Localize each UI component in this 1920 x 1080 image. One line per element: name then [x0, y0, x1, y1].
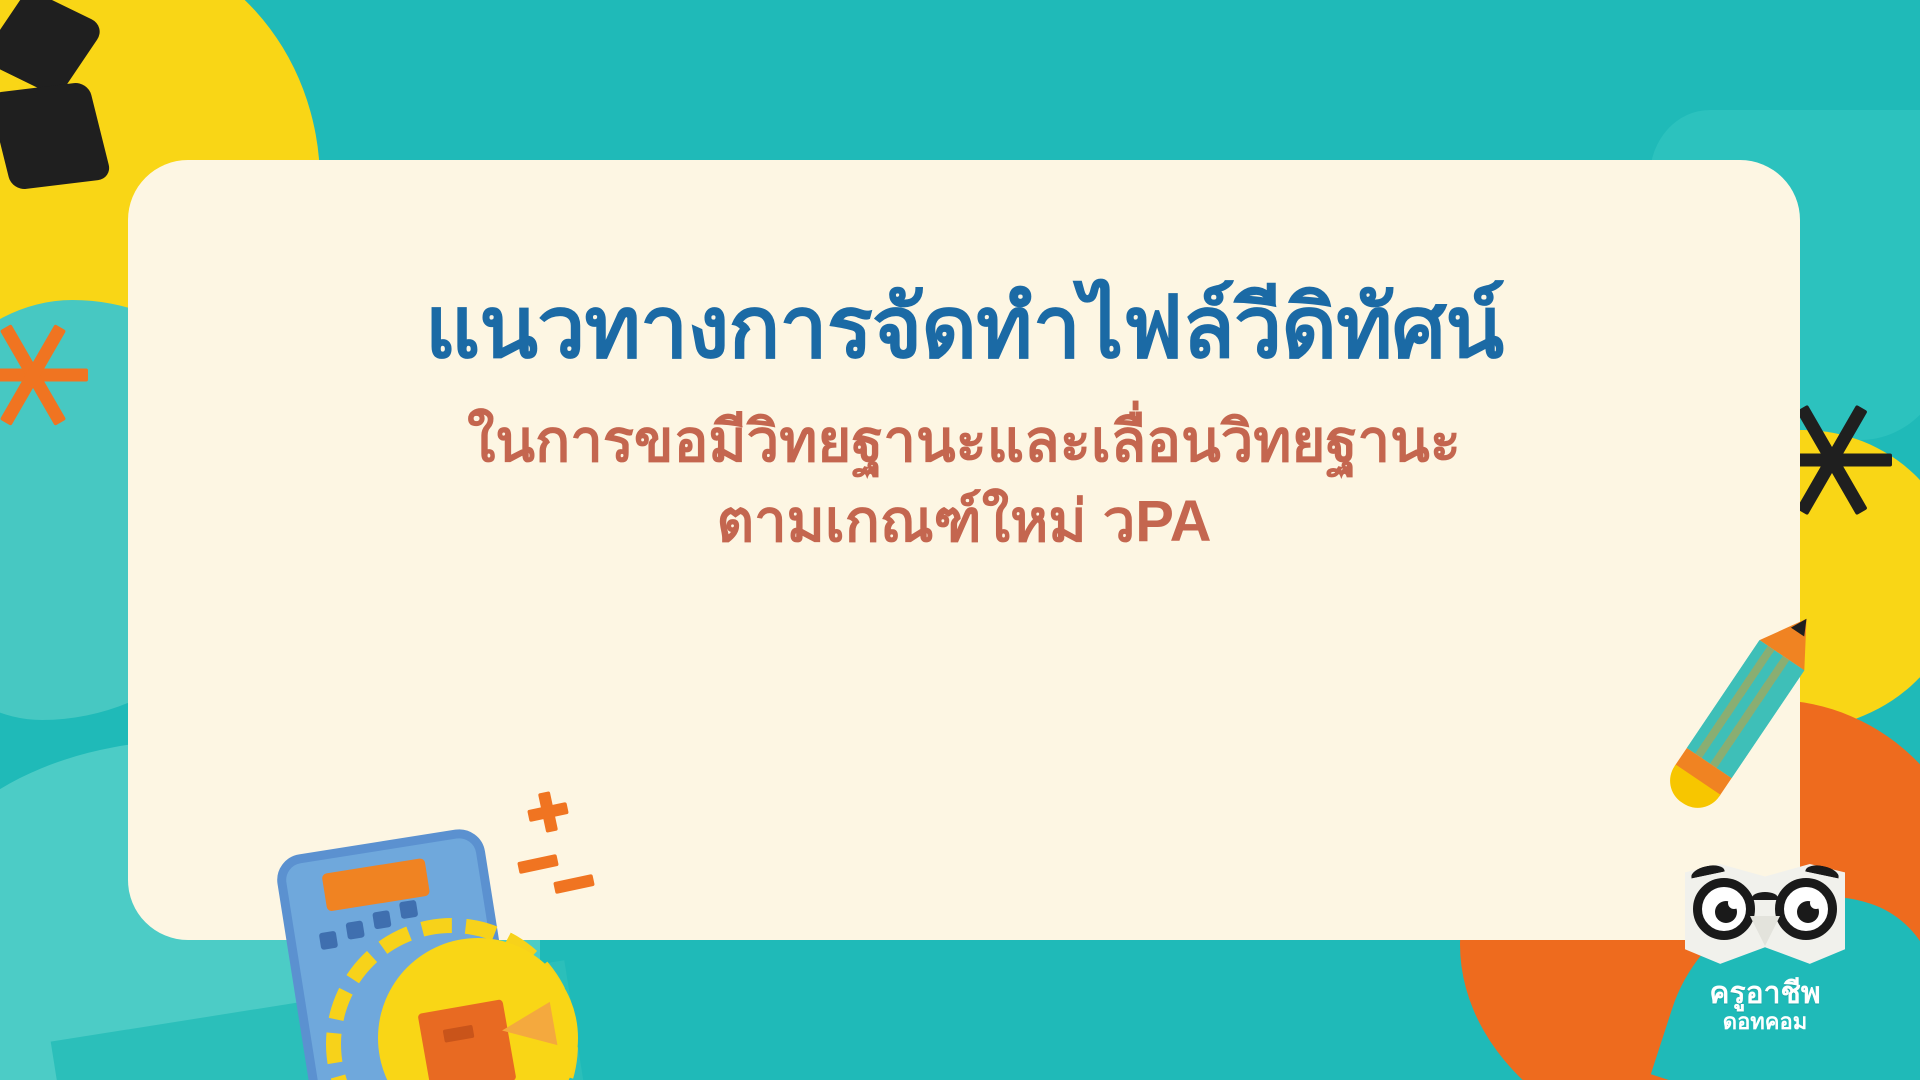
glasses-bridge-icon: [1752, 892, 1778, 904]
tablet-dot: [399, 900, 418, 919]
orange-asterisk-icon: [0, 320, 88, 430]
logo-subname: ดอทคอม: [1670, 1010, 1860, 1034]
subtitle-line-2: ตามเกณฑ์ใหม่ วPA: [188, 482, 1740, 562]
camera-lens-icon: [499, 1002, 558, 1054]
camera-viewfinder-icon: [443, 1025, 475, 1043]
page-title: แนวทางการจัดทำไฟล์วีดิทัศน์: [188, 280, 1740, 376]
owl-pupil: [1797, 901, 1819, 923]
plus-mark-icon: [524, 788, 571, 835]
tablet-dot: [319, 931, 338, 950]
logo-name: ครูอาชีพ: [1670, 978, 1860, 1010]
subtitle-block: ในการขอมีวิทยฐานะและเลื่อนวิทยฐานะ ตามเก…: [188, 402, 1740, 562]
content-card: แนวทางการจัดทำไฟล์วีดิทัศน์ ในการขอมีวิท…: [128, 160, 1800, 940]
owl-eye-right: [1775, 878, 1837, 940]
title-block: แนวทางการจัดทำไฟล์วีดิทัศน์ ในการขอมีวิท…: [128, 280, 1800, 562]
owl-pupil: [1715, 901, 1737, 923]
brand-logo[interactable]: ครูอาชีพ ดอทคอม: [1670, 858, 1860, 1058]
video-tablet-illustration: [278, 810, 678, 1080]
owl-icon: [1685, 858, 1845, 976]
tablet-dot: [345, 920, 364, 939]
dash-mark-icon: [517, 854, 559, 874]
dash-mark-icon: [553, 874, 595, 894]
poster-canvas: แนวทางการจัดทำไฟล์วีดิทัศน์ ในการขอมีวิท…: [0, 0, 1920, 1080]
owl-eye-left: [1693, 878, 1755, 940]
subtitle-line-1: ในการขอมีวิทยฐานะและเลื่อนวิทยฐานะ: [188, 402, 1740, 482]
tablet-dot: [372, 910, 391, 929]
owl-beak-icon: [1750, 916, 1780, 946]
